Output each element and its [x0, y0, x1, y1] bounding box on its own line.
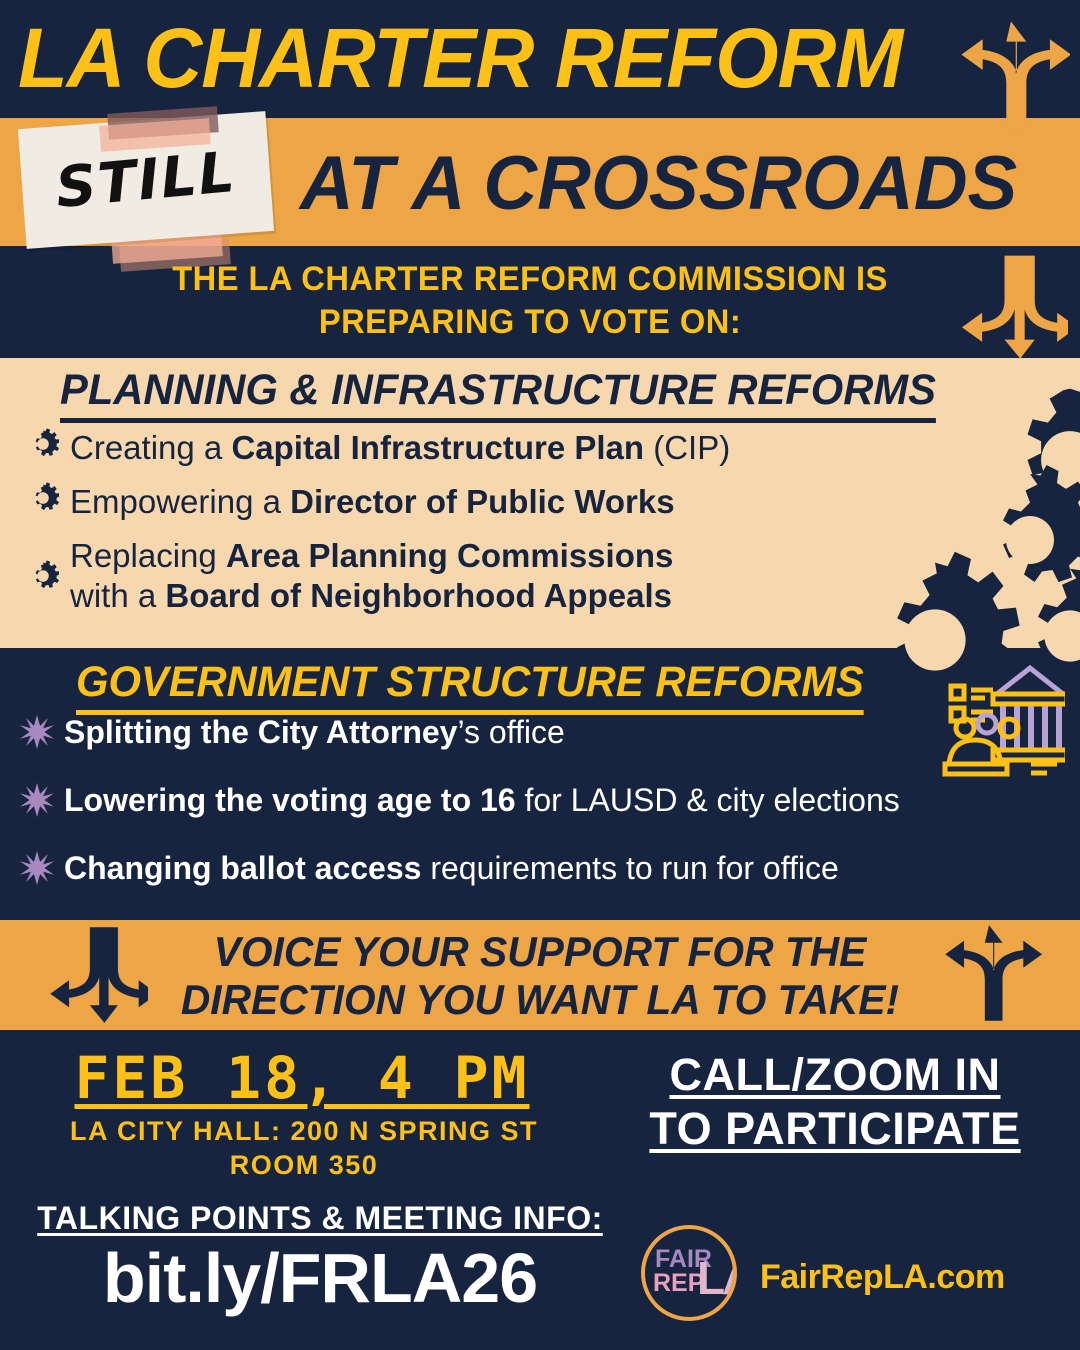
- planning-section-heading: PLANNING & INFRASTRUCTURE REFORMS: [60, 366, 936, 423]
- list-item: Replacing Area Planning Commissions with…: [16, 536, 876, 616]
- gear-icon: [16, 560, 70, 592]
- list-item-text: Creating a Capital Infrastructure Plan (…: [70, 428, 730, 468]
- list-item-text: Replacing Area Planning Commissions with…: [70, 536, 673, 616]
- list-item-text: Lowering the voting age to 16 for LAUSD …: [64, 780, 900, 820]
- gear-icon: [16, 482, 70, 514]
- page-subtitle: AT A CROSSROADS: [300, 138, 1017, 230]
- crossroads-arrow-icon: [40, 922, 148, 1026]
- event-date-time: FEB 18, 4 PM: [42, 1046, 562, 1110]
- lead-text: THE LA CHARTER REFORM COMMISSION IS PREP…: [108, 258, 953, 344]
- lead-line-1: THE LA CHARTER REFORM COMMISSION IS: [108, 258, 953, 301]
- list-item-text: Empowering a Director of Public Works: [70, 482, 675, 522]
- page-title: LA CHARTER REFORM: [18, 10, 902, 106]
- participate-line-1: CALL/ZOOM IN: [670, 1048, 1001, 1102]
- participate-note: CALL/ZOOM IN TO PARTICIPATE: [600, 1048, 1070, 1156]
- government-section-heading: GOVERNMENT STRUCTURE REFORMS: [76, 658, 864, 715]
- star-icon: [10, 851, 64, 885]
- list-item: Creating a Capital Infrastructure Plan (…: [16, 428, 876, 468]
- participate-line-2: TO PARTICIPATE: [649, 1102, 1020, 1156]
- logo-la-text: LA: [697, 1251, 737, 1305]
- poster-root: LA CHARTER REFORM STILL AT A CROSSROADS …: [0, 0, 1080, 1350]
- star-icon: [10, 715, 64, 749]
- list-item: Empowering a Director of Public Works: [16, 482, 876, 522]
- planning-bullet-list: Creating a Capital Infrastructure Plan (…: [16, 428, 876, 630]
- cta-line-1: VOICE YOUR SUPPORT FOR THE: [162, 928, 919, 976]
- gear-icon: [16, 428, 70, 460]
- list-item: Lowering the voting age to 16 for LAUSD …: [10, 780, 1075, 820]
- list-item: Changing ballot access requirements to r…: [10, 848, 1075, 888]
- short-link[interactable]: bit.ly/FRLA26: [20, 1238, 620, 1318]
- crossroads-arrow-icon: [950, 250, 1068, 362]
- sticky-note: STILL: [8, 116, 278, 248]
- list-item-text: Changing ballot access requirements to r…: [64, 848, 839, 888]
- event-address: LA CITY HALL: 200 N SPRING ST ROOM 350: [30, 1114, 578, 1182]
- cta-line-2: DIRECTION YOU WANT LA TO TAKE!: [162, 976, 919, 1024]
- address-line-2: ROOM 350: [30, 1148, 578, 1182]
- website-url[interactable]: FairRepLA.com: [760, 1258, 1005, 1297]
- lead-line-2: PREPARING TO VOTE ON:: [108, 301, 953, 344]
- government-bullet-list: Splitting the City Attorney’s office Low…: [10, 712, 1075, 916]
- list-item: Splitting the City Attorney’s office: [10, 712, 1075, 752]
- crossroads-arrow-icon: [935, 922, 1043, 1026]
- crossroads-arrow-icon: [952, 18, 1070, 136]
- address-line-1: LA CITY HALL: 200 N SPRING ST: [30, 1114, 578, 1148]
- list-item-text: Splitting the City Attorney’s office: [64, 712, 565, 752]
- star-icon: [10, 783, 64, 817]
- talking-points-label: TALKING POINTS & MEETING INFO:: [20, 1200, 620, 1237]
- call-to-action: VOICE YOUR SUPPORT FOR THE DIRECTION YOU…: [162, 928, 919, 1024]
- fairrepla-logo: FAIR REP LA: [641, 1225, 737, 1321]
